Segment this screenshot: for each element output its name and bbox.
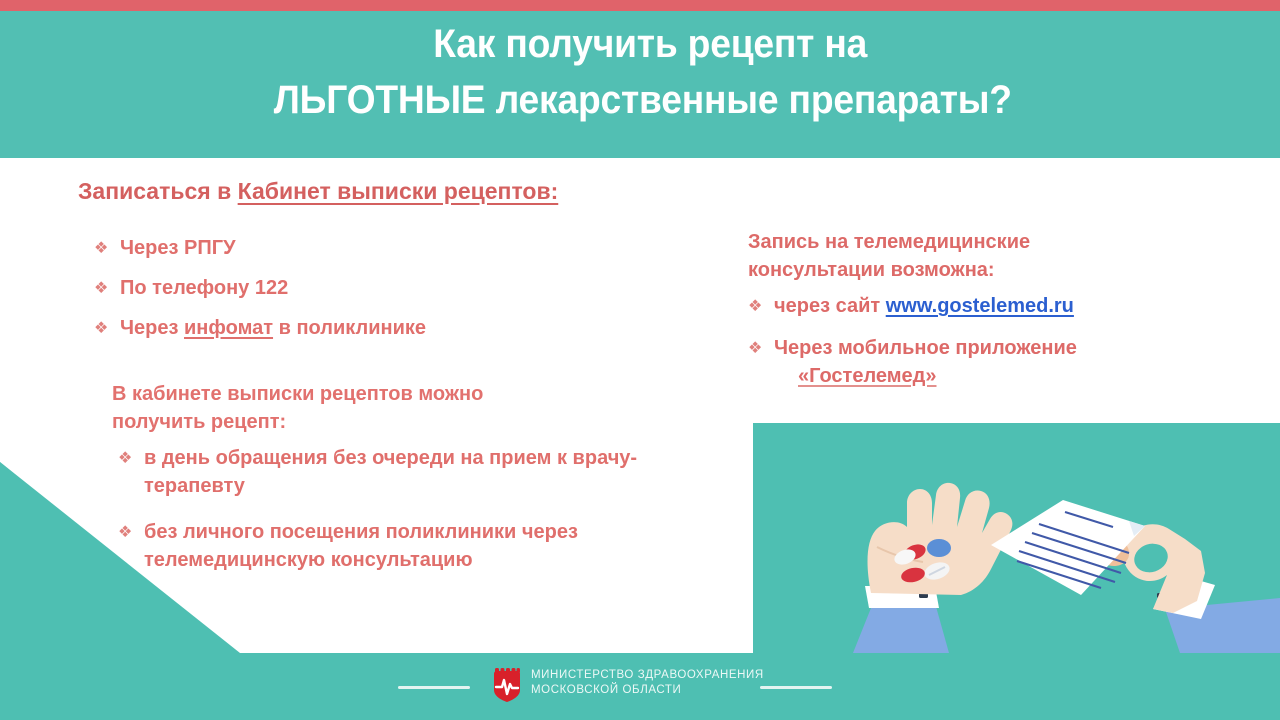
telemedicine-heading-line-1: Запись на телемедицинские xyxy=(748,228,1168,256)
infographic-poster: Как получить рецепт на ЛЬГОТНЫЕ лекарств… xyxy=(0,0,1280,720)
left-heading-prefix: Записаться xyxy=(78,178,211,204)
telemedicine-methods-list: ❖ через сайт www.gostelemed.ru ❖ Через м… xyxy=(748,292,1188,404)
list-item-label: через сайт www.gostelemed.ru xyxy=(774,292,1074,320)
list-item: ❖ По телефону 122 xyxy=(94,268,694,308)
telemedicine-heading: Запись на телемедицинские консультации в… xyxy=(748,228,1168,284)
list-item: ❖ в день обращения без очереди на прием … xyxy=(118,444,718,500)
footer-org-line-2: МОСКОВСКОЙ ОБЛАСТИ xyxy=(531,683,764,698)
pill-blue-tablet xyxy=(927,539,951,557)
left-heading-middle: в xyxy=(211,178,238,204)
list-item-label: Через мобильное приложение«Гостелемед» xyxy=(774,334,1077,390)
diamond-bullet-icon: ❖ xyxy=(94,228,120,268)
booking-methods-list: ❖ Через РПГУ ❖ По телефону 122 ❖ Через и… xyxy=(94,228,694,348)
diamond-bullet-icon: ❖ xyxy=(94,268,120,308)
title-line-1: Как получить рецепт на xyxy=(45,16,1235,72)
list-item: ❖ Через инфомат в поликлинике xyxy=(94,308,694,348)
cabinet-subheading-line-1: В кабинете выписки рецептов можно xyxy=(112,380,672,408)
list-item-text-before: Через xyxy=(120,317,184,339)
list-item-label: Через РПГУ xyxy=(120,228,236,268)
title-line-2: ЛЬГОТНЫЕ лекарственные препараты? xyxy=(45,72,1235,128)
list-item: ❖ через сайт www.gostelemed.ru xyxy=(748,292,1188,320)
telemedicine-heading-line-2: консультации возможна: xyxy=(748,256,1168,284)
list-item-text-before: Через мобильное приложение xyxy=(774,337,1077,359)
footer-divider-left xyxy=(398,686,470,689)
diamond-bullet-icon: ❖ xyxy=(94,308,120,348)
list-item: ❖ Через РПГУ xyxy=(94,228,694,268)
mobile-app-name: «Гостелемед» xyxy=(798,362,1077,390)
list-item-label: Через инфомат в поликлинике xyxy=(120,308,426,348)
list-item-text-before: через сайт xyxy=(774,295,886,317)
left-heading-underlined: Кабинет выписки рецептов: xyxy=(238,178,559,204)
footer-divider-right xyxy=(760,686,832,689)
diamond-bullet-icon: ❖ xyxy=(748,292,774,320)
shield-heartbeat-logo xyxy=(492,667,522,704)
left-heading: Записаться в Кабинет выписки рецептов: xyxy=(78,178,558,205)
diamond-bullet-icon: ❖ xyxy=(118,518,144,546)
list-item-label: в день обращения без очереди на прием к … xyxy=(144,444,704,500)
list-item-label: По телефону 122 xyxy=(120,268,288,308)
gostelemed-website-link[interactable]: www.gostelemed.ru xyxy=(886,295,1074,317)
cabinet-subheading-line-2: получить рецепт: xyxy=(112,408,672,436)
list-item: ❖ Через мобильное приложение«Гостелемед» xyxy=(748,334,1188,390)
cabinet-benefits-list: ❖ в день обращения без очереди на прием … xyxy=(118,444,718,592)
list-item-label: без личного посещения поликлиники через … xyxy=(144,518,704,574)
top-accent-strip xyxy=(0,0,1280,11)
diamond-bullet-icon: ❖ xyxy=(748,334,774,362)
diamond-bullet-icon: ❖ xyxy=(118,444,144,472)
shield-heartbeat-icon xyxy=(492,667,522,704)
footer-organization: МИНИСТЕРСТВО ЗДРАВООХРАНЕНИЯ МОСКОВСКОЙ … xyxy=(531,668,764,698)
illustration-svg xyxy=(753,423,1280,653)
list-item-text-after: в поликлинике xyxy=(273,317,426,339)
page-title: Как получить рецепт на ЛЬГОТНЫЕ лекарств… xyxy=(0,16,1280,128)
illustration-hands xyxy=(753,423,1280,653)
cabinet-subheading: В кабинете выписки рецептов можно получи… xyxy=(112,380,672,436)
list-item: ❖ без личного посещения поликлиники чере… xyxy=(118,518,718,574)
list-item-text-underlined: инфомат xyxy=(184,317,273,339)
footer-org-line-1: МИНИСТЕРСТВО ЗДРАВООХРАНЕНИЯ xyxy=(531,668,764,683)
